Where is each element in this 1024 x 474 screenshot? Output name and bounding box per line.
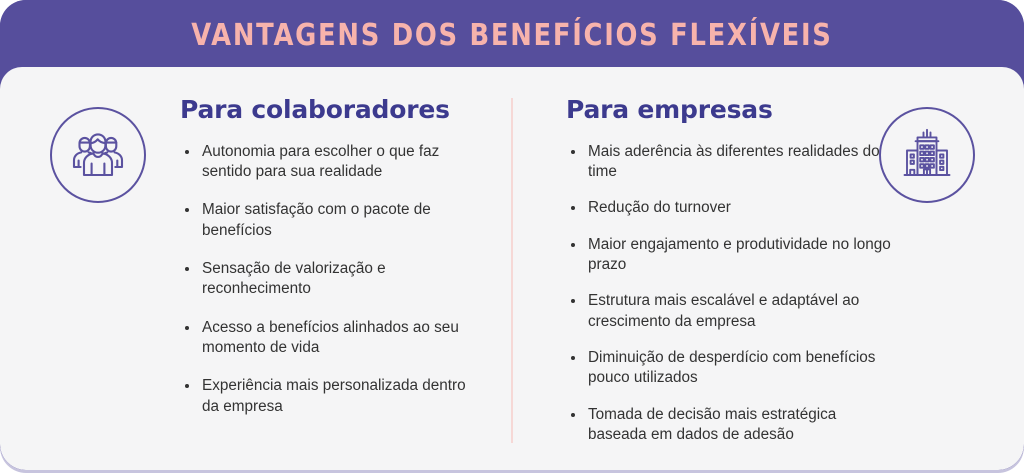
infographic-canvas: VANTAGENS DOS BENEFÍCIOS FLEXÍVEIS: [0, 0, 1024, 474]
people-group-icon: [50, 107, 146, 203]
bullet-list-colaboradores: Autonomia para escolher o que faz sentid…: [180, 142, 480, 417]
list-item: Mais aderência às diferentes realidades …: [566, 142, 896, 183]
page-title: VANTAGENS DOS BENEFÍCIOS FLEXÍVEIS: [191, 21, 832, 51]
list-item: Estrutura mais escalável e adaptável ao …: [566, 291, 896, 332]
column-colaboradores: Para colaboradores Autonomia para escolh…: [180, 96, 480, 417]
list-item: Acesso a benefícios alinhados ao seu mom…: [180, 318, 480, 359]
list-item: Maior engajamento e produtividade no lon…: [566, 235, 896, 276]
infographic-card: VANTAGENS DOS BENEFÍCIOS FLEXÍVEIS: [0, 0, 1024, 470]
list-item: Diminuição de desperdício com benefícios…: [566, 348, 896, 389]
bullet-list-empresas: Mais aderência às diferentes realidades …: [566, 142, 896, 446]
column-divider: [511, 98, 513, 443]
column-heading-colaboradores: Para colaboradores: [180, 96, 480, 124]
list-item: Autonomia para escolher o que faz sentid…: [180, 142, 480, 183]
list-item: Redução do turnover: [566, 198, 896, 218]
header-band: VANTAGENS DOS BENEFÍCIOS FLEXÍVEIS: [0, 0, 1024, 72]
column-heading-empresas: Para empresas: [566, 96, 896, 124]
list-item: Sensação de valorização e reconhecimento: [180, 259, 480, 300]
column-empresas: Para empresas Mais aderência às diferent…: [566, 96, 896, 461]
list-item: Tomada de decisão mais estratégica basea…: [566, 405, 896, 446]
list-item: Maior satisfação com o pacote de benefíc…: [180, 200, 480, 241]
list-item: Experiência mais personalizada dentro da…: [180, 376, 480, 417]
